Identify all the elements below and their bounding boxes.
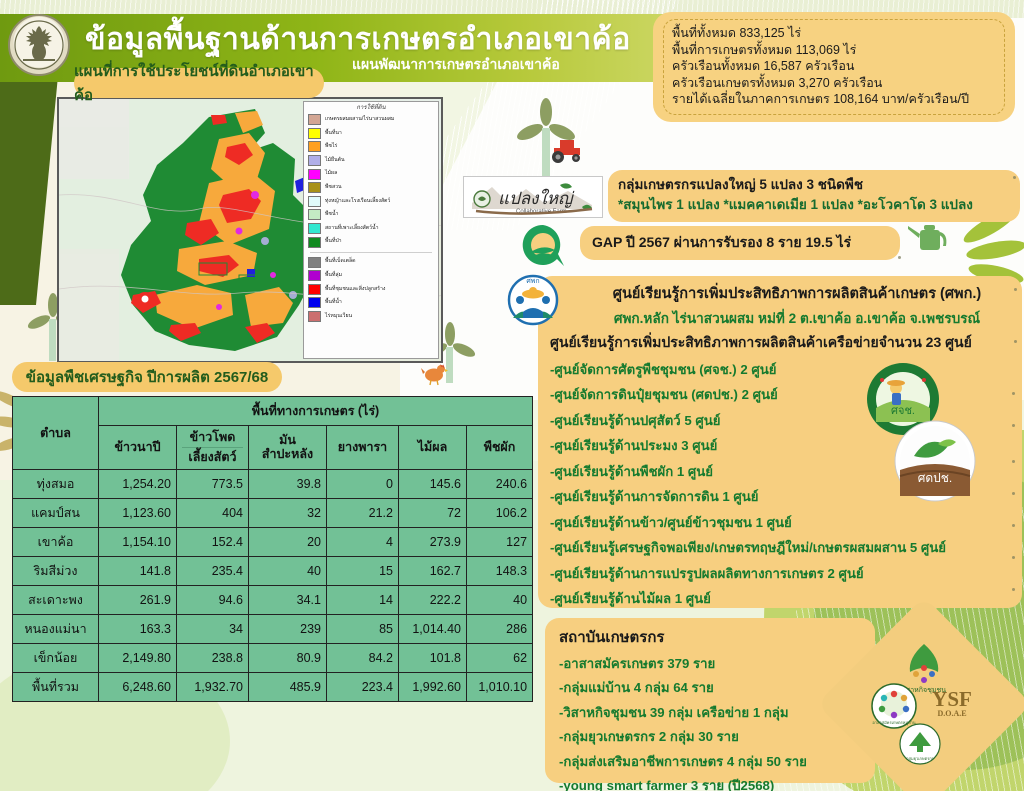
table-cell-tambon: เข็กน้อย (13, 643, 99, 672)
table-cell-value: 163.3 (99, 614, 177, 643)
legend-label: พื้นที่ชุมชนและสิ่งปลูกสร้าง (325, 287, 385, 292)
table-header-group-row: ตำบล พื้นที่ทางการเกษตร (ไร่) (13, 397, 533, 426)
legend-swatch (308, 223, 321, 234)
table-cell-tambon: สะเดาะพง (13, 585, 99, 614)
table-row: หนองแม่นา163.334239851,014.40286 (13, 614, 533, 643)
sodpoch-badge-icon: ศดปช. (894, 420, 976, 502)
table-cell-value: 1,123.60 (99, 498, 177, 527)
page-subtitle: แผนพัฒนาการเกษตรอำเภอเขาค้อ (352, 54, 560, 76)
svg-text:ศดปช.: ศดปช. (918, 471, 953, 485)
table-cell-value: 1,932.70 (177, 672, 249, 701)
learning-center-item: -ศูนย์จัดการดินปุ๋ยชุมชน (ศดปช.) 2 ศูนย์ (550, 384, 1014, 405)
table-cell-value: 32 (249, 498, 327, 527)
th-cassava-top: มัน (279, 433, 296, 447)
table-cell-value: 106.2 (467, 498, 533, 527)
legend-swatch (308, 311, 321, 322)
table-cell-value: 0 (327, 469, 399, 498)
legend-item: พื้นที่นา (308, 128, 434, 139)
watering-can-icon (906, 216, 956, 262)
summary-stat-line: ครัวเรือนเกษตรทั้งหมด 3,270 ครัวเรือน (672, 75, 998, 92)
plang-yai-line-2: *สมุนไพร 1 แปลง *แมคคาเดเมีย 1 แปลง *อะโ… (618, 195, 1010, 215)
table-cell-value: 273.9 (399, 527, 467, 556)
legend-label: ไร่หมุนเวียน (325, 314, 352, 319)
legend-item: ไม้ผล (308, 169, 434, 180)
table-cell-value: 148.3 (467, 556, 533, 585)
legend-item: เกษตรผสมผสาน/ไร่นาสวนผสม (308, 114, 434, 125)
table-cell-value: 238.8 (177, 643, 249, 672)
legend-swatch (308, 297, 321, 308)
legend-divider (310, 252, 432, 253)
legend-swatch (308, 257, 321, 268)
table-cell-value: 239 (249, 614, 327, 643)
th-group-area: พื้นที่ทางการเกษตร (ไร่) (99, 397, 533, 426)
legend-list-primary: เกษตรผสมผสาน/ไร่นาสวนผสมพื้นที่นาพืชไร่ไ… (308, 114, 434, 247)
akm-badge-icon: อาสาสมัครเกษตรหมู่บ้าน (872, 684, 916, 728)
table-row: สะเดาะพง261.994.634.114222.240 (13, 585, 533, 614)
table-cell-value: 145.6 (399, 469, 467, 498)
plang-yai-panel: กลุ่มเกษตรกรแปลงใหญ่ 5 แปลง 3 ชนิดพืช *ส… (608, 170, 1020, 222)
farmer-institution-item: -กลุ่มยุวเกษตรกร 2 กลุ่ม 30 ราย (559, 726, 865, 747)
svg-text:ศจช.: ศจช. (891, 405, 915, 417)
table-cell-value: 773.5 (177, 469, 249, 498)
spk-logo-icon: ศพก (505, 272, 561, 326)
gap-text: GAP ปี 2567 ผ่านการรับรอง 8 ราย 19.5 ไร่ (592, 232, 851, 254)
th-rubber: ยางพารา (327, 426, 399, 470)
table-cell-value: 1,254.20 (99, 469, 177, 498)
legend-swatch (308, 128, 321, 139)
farmer-institution-list: -อาสาสมัครเกษตร 379 ราย-กลุ่มแม่บ้าน 4 ก… (559, 653, 865, 791)
legend-label: พื้นที่น้ำ (325, 300, 342, 305)
legend-label: ทุ่งหญ้าและโรงเรือนเลี้ยงสัตว์ (325, 199, 390, 204)
legend-item: ทุ่งหญ้าและโรงเรือนเลี้ยงสัตว์ (308, 196, 434, 207)
legend-swatch (308, 114, 321, 125)
legend-label: พื้นที่นา (325, 131, 342, 136)
summary-stat-line: พื้นที่ทั้งหมด 833,125 ไร่ (672, 25, 998, 42)
table-cell-value: 21.2 (327, 498, 399, 527)
summary-stat-line: พื้นที่การเกษตรทั้งหมด 113,069 ไร่ (672, 42, 998, 59)
table-cell-value: 127 (467, 527, 533, 556)
farmer-institution-heading: สถาบันเกษตรกร (559, 625, 865, 649)
map-legend: การใช้ที่ดิน เกษตรผสมผสาน/ไร่นาสวนผสมพื้… (303, 101, 439, 359)
summary-stats-list: พื้นที่ทั้งหมด 833,125 ไร่พื้นที่การเกษต… (663, 19, 1005, 115)
legend-label: สถานที่เพาะเลี้ยงสัตว์น้ำ (325, 226, 379, 231)
learning-center-item: -ศูนย์เรียนรู้ด้านไม้ผล 1 ศูนย์ (550, 588, 1014, 609)
learning-center-item: -ศูนย์เรียนรู้ด้านการแปรรูปผลผลิตทางการเ… (550, 563, 1014, 584)
svg-text:ศพก: ศพก (526, 278, 539, 285)
table-cell-value: 14 (327, 585, 399, 614)
institution-badges: วิสาหกิจชุมชน อาสาสมัครเกษตรหมู่บ้าน YSF… (848, 628, 1000, 780)
learning-center-heading: ศูนย์เรียนรู้การเพิ่มประสิทธิภาพการผลิตส… (550, 282, 1014, 305)
legend-item: พื้นที่ชุมชนและสิ่งปลูกสร้าง (308, 284, 434, 295)
legend-swatch (308, 141, 321, 152)
legend-item: พืชไร่ (308, 141, 434, 152)
th-tambon: ตำบล (13, 397, 99, 470)
legend-label: พืชไร่ (325, 144, 337, 149)
table-cell-value: 40 (249, 556, 327, 585)
legend-label: พืชน้ำ (325, 212, 338, 217)
table-cell-value: 485.9 (249, 672, 327, 701)
table-cell-tambon: เขาค้อ (13, 527, 99, 556)
legend-label: พื้นที่เบ็ดเตล็ด (325, 259, 356, 264)
th-cassava-bottom: สำปะหลัง (262, 447, 313, 461)
table-cell-value: 152.4 (177, 527, 249, 556)
table-cell-value: 261.9 (99, 585, 177, 614)
table-cell-value: 20 (249, 527, 327, 556)
th-maize-top: ข้าวโพด (182, 430, 243, 448)
summary-stat-line: ครัวเรือนทั้งหมด 16,587 ครัวเรือน (672, 58, 998, 75)
q-certification-icon (519, 222, 567, 268)
table-cell-tambon: แคมป์สน (13, 498, 99, 527)
legend-swatch (308, 196, 321, 207)
table-title: ข้อมูลพืชเศรษฐกิจ ปีการผลิต 2567/68 (12, 362, 282, 392)
table-cell-value: 72 (399, 498, 467, 527)
legend-list-secondary: พื้นที่เบ็ดเตล็ดพื้นที่ลุ่มพื้นที่ชุมชนแ… (308, 257, 434, 322)
ysf-badge-icon: YSF D.O.A.E (932, 687, 972, 718)
table-cell-value: 85 (327, 614, 399, 643)
table-cell-value: 94.6 (177, 585, 249, 614)
table-cell-value: 222.2 (399, 585, 467, 614)
legend-label: พื้นที่ป่า (325, 239, 342, 244)
learning-center-subheading: ศพก.หลัก ไร่นาสวนผสม หม่ที่ 2 ต.เขาค้อ อ… (550, 307, 1014, 329)
table-cell-value: 34 (177, 614, 249, 643)
legend-swatch (308, 270, 321, 281)
table-cell-value: 80.9 (249, 643, 327, 672)
farmer-institution-item: -young smart farmer 3 ราย (ปี2568) (559, 775, 865, 791)
table-row: พื้นที่รวม6,248.601,932.70485.9223.41,99… (13, 672, 533, 701)
legend-label: พืชสวน (325, 185, 342, 190)
svg-text:YSF: YSF (932, 687, 972, 711)
table-body: ทุ่งสมอ1,254.20773.539.80145.6240.6แคมป์… (13, 469, 533, 701)
farmer-institution-item: -วิสาหกิจชุมชน 39 กลุ่ม เครือข่าย 1 กลุ่… (559, 702, 865, 723)
table-cell-value: 2,149.80 (99, 643, 177, 672)
table-cell-tambon: ทุ่งสมอ (13, 469, 99, 498)
legend-swatch (308, 169, 321, 180)
legend-swatch (308, 182, 321, 193)
legend-item: พื้นที่เบ็ดเตล็ด (308, 257, 434, 268)
table-cell-value: 84.2 (327, 643, 399, 672)
table-cell-value: 6,248.60 (99, 672, 177, 701)
table-cell-tambon: พื้นที่รวม (13, 672, 99, 701)
summary-stat-line: รายได้เฉลี่ยในภาคการเกษตร 108,164 บาท/คร… (672, 91, 998, 108)
learning-center-item: -ศูนย์เรียนรู้ด้านข้าว/ศูนย์ข้าวชุมชน 1 … (550, 512, 1014, 533)
th-maize: ข้าวโพด เลี้ยงสัตว์ (177, 426, 249, 470)
farmer-institution-item: -กลุ่มแม่บ้าน 4 กลุ่ม 64 ราย (559, 677, 865, 698)
tractor-icon (546, 134, 588, 164)
table-row: เขาค้อ1,154.10152.4204273.9127 (13, 527, 533, 556)
table-cell-value: 1,014.40 (399, 614, 467, 643)
farmer-institution-item: -กลุ่มส่งเสริมอาชีพการเกษตร 4 กลุ่ม 50 ร… (559, 751, 865, 772)
legend-label: ไม้ผล (325, 171, 337, 176)
table-cell-value: 40 (467, 585, 533, 614)
learning-center-network-heading: ศูนย์เรียนรู้การเพิ่มประสิทธิภาพการผลิตส… (550, 332, 1014, 354)
table-row: ริมสีม่วง141.8235.44015162.7148.3 (13, 556, 533, 585)
infographic-page: ข้อมูลพื้นฐานด้านการเกษตรอำเภอเขาค้อ แผน… (0, 0, 1024, 791)
legend-item: ไร่หมุนเวียน (308, 311, 434, 322)
legend-item: พื้นที่ป่า (308, 237, 434, 248)
plang-yai-line-1: กลุ่มเกษตรกรแปลงใหญ่ 5 แปลง 3 ชนิดพืช (618, 175, 1010, 195)
legend-item: ไม้ยืนต้น (308, 155, 434, 166)
table-cell-tambon: หนองแม่นา (13, 614, 99, 643)
table-cell-value: 34.1 (249, 585, 327, 614)
gap-panel: GAP ปี 2567 ผ่านการรับรอง 8 ราย 19.5 ไร่ (580, 226, 900, 260)
table-cell-value: 286 (467, 614, 533, 643)
table-row: แคมป์สน1,123.604043221.272106.2 (13, 498, 533, 527)
th-fruit: ไม้ผล (399, 426, 467, 470)
legend-item: พื้นที่ลุ่ม (308, 270, 434, 281)
table-cell-value: 141.8 (99, 556, 177, 585)
economic-crops-table: ตำบล พื้นที่ทางการเกษตร (ไร่) ข้าวนาปี ข… (12, 396, 533, 702)
table-cell-value: 223.4 (327, 672, 399, 701)
garuda-seal-icon (8, 14, 70, 76)
summary-stats-panel: พื้นที่ทั้งหมด 833,125 ไร่พื้นที่การเกษต… (653, 12, 1015, 122)
chicken-icon (420, 360, 450, 386)
legend-swatch (308, 209, 321, 220)
table-cell-value: 235.4 (177, 556, 249, 585)
legend-item: พื้นที่น้ำ (308, 297, 434, 308)
table-cell-value: 62 (467, 643, 533, 672)
table-cell-value: 1,992.60 (399, 672, 467, 701)
learning-center-item: -ศูนย์เรียนรู้เศรษฐกิจพอเพียง/เกษตรทฤษฎี… (550, 537, 1014, 558)
legend-title: การใช้ที่ดิน (308, 105, 434, 111)
legend-swatch (308, 284, 321, 295)
table-row: เข็กน้อย2,149.80238.880.984.2101.862 (13, 643, 533, 672)
table-cell-tambon: ริมสีม่วง (13, 556, 99, 585)
legend-item: พืชสวน (308, 182, 434, 193)
th-vegetable: พืชผัก (467, 426, 533, 470)
legend-swatch (308, 155, 321, 166)
table-cell-value: 1,010.10 (467, 672, 533, 701)
table-row: ทุ่งสมอ1,254.20773.539.80145.6240.6 (13, 469, 533, 498)
legend-item: สถานที่เพาะเลี้ยงสัตว์น้ำ (308, 223, 434, 234)
table-cell-value: 240.6 (467, 469, 533, 498)
table-cell-value: 39.8 (249, 469, 327, 498)
svg-text:แปลงใหญ่: แปลงใหญ่ (498, 188, 574, 208)
legend-label: เกษตรผสมผสาน/ไร่นาสวนผสม (325, 117, 394, 122)
map-title: แผนที่การใช้ประโยชน์ที่ดินอำเภอเขาค้อ (74, 68, 324, 98)
table-cell-value: 4 (327, 527, 399, 556)
youth-farmer-badge-icon: กลุ่มยุวเกษตรกร (900, 724, 940, 764)
th-maize-bottom: เลี้ยงสัตว์ (182, 448, 243, 465)
land-use-map: การใช้ที่ดิน เกษตรผสมผสาน/ไร่นาสวนผสมพื้… (57, 97, 443, 363)
legend-label: ไม้ยืนต้น (325, 158, 345, 163)
table-cell-value: 15 (327, 556, 399, 585)
learning-center-item: -ศูนย์จัดการศัตรูพืชชุมชน (ศจช.) 2 ศูนย์ (550, 359, 1014, 380)
th-rice: ข้าวนาปี (99, 426, 177, 470)
svg-text:D.O.A.E: D.O.A.E (937, 709, 966, 718)
th-cassava: มัน สำปะหลัง (249, 426, 327, 470)
legend-item: พืชน้ำ (308, 209, 434, 220)
farmer-institution-item: -อาสาสมัครเกษตร 379 ราย (559, 653, 865, 674)
table-cell-value: 404 (177, 498, 249, 527)
table-cell-value: 101.8 (399, 643, 467, 672)
table-cell-value: 162.7 (399, 556, 467, 585)
legend-swatch (308, 237, 321, 248)
table-cell-value: 1,154.10 (99, 527, 177, 556)
plang-yai-logo: แปลงใหญ่ Collaborative Farm (463, 176, 603, 218)
legend-label: พื้นที่ลุ่ม (325, 273, 342, 278)
